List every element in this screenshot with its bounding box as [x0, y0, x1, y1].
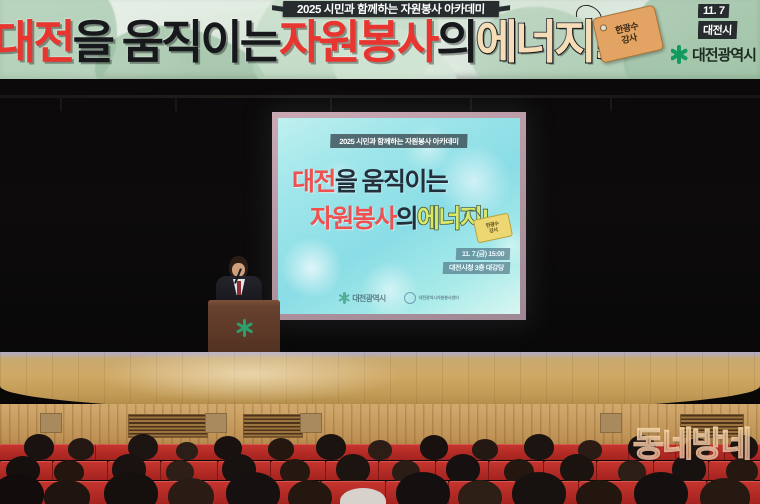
slide-title-line-1: 대전을 움직이는 [292, 170, 518, 195]
wall-panel [300, 413, 322, 433]
podium-top [208, 300, 280, 307]
audience-hall [0, 404, 760, 504]
slide-speaker-role: 강사 [489, 227, 499, 235]
banner-title-part-3: 자원봉사 [279, 19, 436, 65]
speaker-necktie [237, 281, 241, 295]
podium-and-speaker [202, 256, 286, 364]
banner-date-chip: 11. 7 [698, 4, 730, 18]
ring-logo-icon [404, 292, 416, 304]
slide-title-seg-3: 자원봉사 [310, 207, 396, 232]
slide-venue-chip: 대전시청 3층 대강당 [443, 262, 511, 274]
daejeon-emblem-icon [339, 293, 349, 303]
wall-panel [600, 413, 622, 433]
slide-logo-daejeon-label: 대전광역시 [352, 293, 385, 304]
podium [208, 300, 280, 358]
stage-floor [0, 352, 760, 412]
slide-logo-center-label: 대전광역시자원봉사센터 [419, 295, 459, 301]
banner-title-part-4: 의 [436, 19, 475, 65]
slide-logo-daejeon: 대전광역시 [339, 293, 385, 304]
slide-title-seg-1: 대전 [292, 170, 335, 195]
wall-vent [243, 414, 303, 438]
truss-drop [60, 98, 62, 111]
slide-logo-row: 대전광역시 대전광역시자원봉사센터 [278, 292, 520, 304]
truss-drop [330, 98, 332, 111]
banner-logo-label: 대전광역시 [692, 44, 756, 65]
banner-speaker-role: 강사 [620, 32, 638, 46]
wall-panel [40, 413, 62, 433]
banner-title-part-2: 을 움직이는 [73, 19, 279, 65]
slide-title-seg-4: 의 [396, 207, 417, 232]
daejeon-emblem-icon [236, 320, 252, 336]
auditorium-photo: 2025 시민과 함께하는 자원봉사 아카데미 대전 을 움직이는 자원봉사 의… [0, 0, 760, 504]
projection-screen-frame: 2025 시민과 함께하는 자원봉사 아카데미 대전을 움직이는 자원봉사의 에… [272, 112, 526, 320]
daejeon-emblem-icon [671, 46, 688, 63]
stage-banner: 2025 시민과 함께하는 자원봉사 아카데미 대전 을 움직이는 자원봉사 의… [0, 0, 760, 79]
banner-venue-chip: 대전시 [698, 21, 737, 39]
slide-logo-volunteer-center: 대전광역시자원봉사센터 [404, 292, 459, 304]
truss-drop [610, 98, 612, 111]
tag-hole-icon [599, 24, 607, 32]
banner-title-part-1: 대전 [0, 19, 73, 65]
banner-main-title: 대전 을 움직이는 자원봉사 의 에너지! [0, 13, 654, 71]
lighting-truss [0, 95, 760, 98]
slide-title-seg-2: 을 움직이는 [335, 170, 447, 195]
wall-panel [205, 413, 227, 433]
banner-city-logo: 대전광역시 [671, 44, 756, 65]
slide-subtitle-ribbon: 2025 시민과 함께하는 자원봉사 아카데미 [330, 134, 468, 148]
wall-vent [680, 414, 744, 438]
banner-right-chips: 11. 7 대전시 [698, 4, 760, 39]
projection-screen: 2025 시민과 함께하는 자원봉사 아카데미 대전을 움직이는 자원봉사의 에… [278, 118, 520, 314]
slide-info-chips: 11. 7.(금) 15:00 대전시청 3층 대강당 [443, 248, 510, 274]
truss-drop [470, 98, 472, 111]
truss-drop [175, 98, 177, 111]
slide-datetime-chip: 11. 7.(금) 15:00 [456, 248, 511, 260]
